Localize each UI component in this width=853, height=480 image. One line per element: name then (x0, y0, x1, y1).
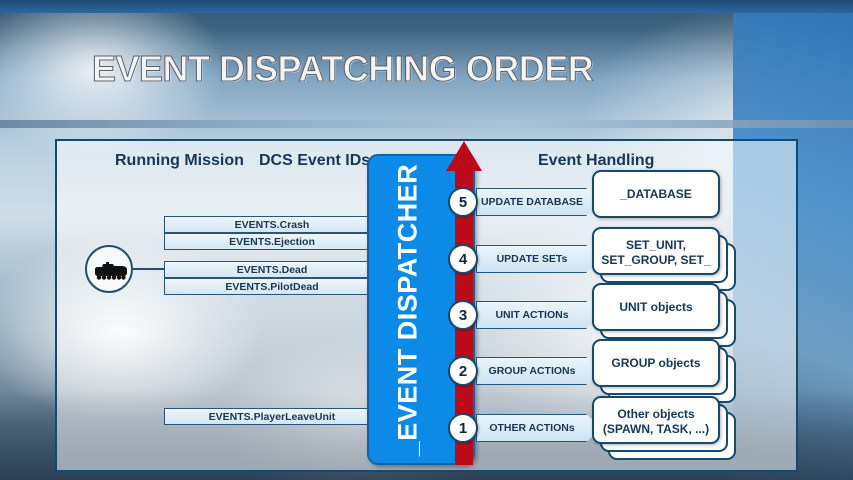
step-number-circle[interactable]: 2 (448, 356, 478, 386)
result-box[interactable]: Other objects(SPAWN, TASK, ...) (592, 396, 720, 444)
step-number-circle[interactable]: 1 (448, 413, 478, 443)
top-accent-band (0, 0, 853, 13)
result-box[interactable]: GROUP objects (592, 339, 720, 387)
column-heading-event-handling: Event Handling (538, 152, 654, 170)
step-number-circle[interactable]: 5 (448, 187, 478, 217)
armored-vehicle-glyph (92, 260, 130, 282)
step-action-arrow[interactable]: UPDATE SETs (476, 245, 602, 273)
step-action-arrow[interactable]: UNIT ACTIONs (476, 301, 602, 329)
step-action-arrow[interactable]: GROUP ACTIONs (476, 357, 602, 385)
result-box-label: GROUP objects (611, 356, 700, 371)
column-heading-running-mission: Running Mission (115, 152, 244, 170)
diagram-panel: Running Mission DCS Event IDs Event Hand… (55, 139, 798, 472)
column-heading-dcs-event-ids: DCS Event IDs (259, 152, 370, 170)
event-id-arrow[interactable]: EVENTS.PilotDead (164, 278, 390, 295)
result-box-label-line2: (SPAWN, TASK, ...) (603, 422, 709, 436)
result-box[interactable]: _DATABASE (592, 170, 720, 218)
armored-vehicle-icon (85, 245, 133, 293)
result-box[interactable]: UNIT objects (592, 283, 720, 331)
event-id-arrow[interactable]: EVENTS.Ejection (164, 233, 390, 250)
step-result-stack: Other objects(SPAWN, TASK, ...) (592, 396, 752, 460)
result-box-label: UNIT objects (619, 300, 692, 315)
result-box-label: Other objects (617, 407, 694, 421)
event-dispatcher-label: _EVENT DISPATCHER (393, 163, 424, 456)
step-action-arrow[interactable]: OTHER ACTIONs (476, 414, 602, 442)
step-result-stack: GROUP objects (592, 339, 752, 403)
step-result-stack: _DATABASE (592, 170, 752, 234)
event-id-arrow[interactable]: EVENTS.Dead (164, 261, 390, 278)
result-box-label: _DATABASE (620, 187, 692, 202)
step-result-stack: SET_UNIT,SET_GROUP, SET_ (592, 227, 752, 291)
step-number-circle[interactable]: 3 (448, 300, 478, 330)
step-action-arrow[interactable]: UPDATE DATABASE (476, 188, 602, 216)
page-title: EVENT DISPATCHING ORDER (92, 48, 593, 90)
result-box-label: SET_UNIT, (626, 238, 686, 252)
event-id-arrow[interactable]: EVENTS.PlayerLeaveUnit (164, 408, 390, 425)
step-number-circle[interactable]: 4 (448, 244, 478, 274)
arrow-head (446, 141, 482, 171)
event-id-arrow[interactable]: EVENTS.Crash (164, 216, 390, 233)
result-box[interactable]: SET_UNIT,SET_GROUP, SET_ (592, 227, 720, 275)
step-result-stack: UNIT objects (592, 283, 752, 347)
slide: EVENT DISPATCHING ORDER Running Mission … (0, 0, 853, 480)
header-divider-band (0, 120, 853, 128)
result-box-label-line2: SET_GROUP, SET_ (601, 253, 710, 267)
